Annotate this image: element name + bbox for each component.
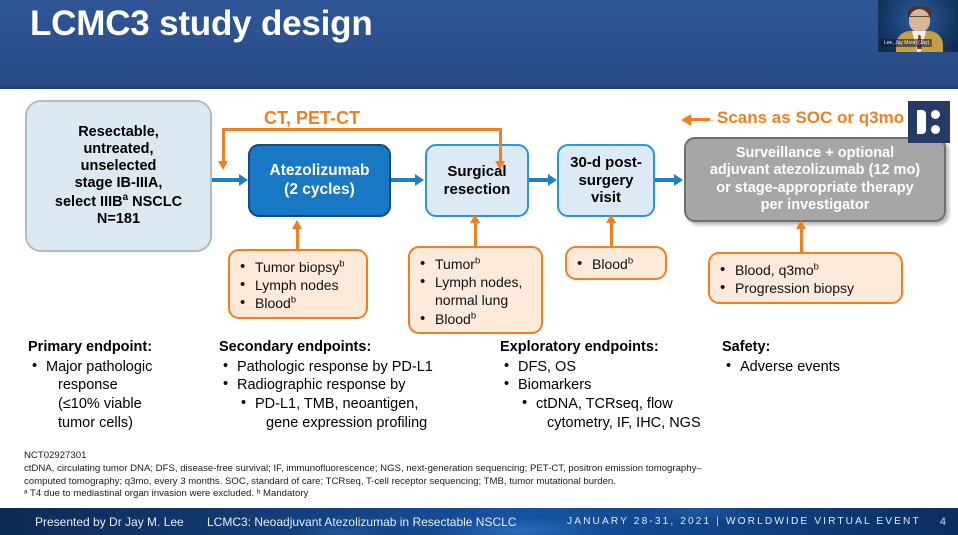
imaging-label: CT, PET-CT — [264, 108, 360, 129]
safety-heading: Safety: — [722, 338, 942, 357]
list-item-sub: PD-L1, TMB, neoantigen, — [219, 395, 509, 414]
flow-arrow-2 — [415, 174, 424, 186]
eligibility-box: Resectable, untreated, unselected stage … — [25, 100, 212, 252]
header-divider — [0, 86, 958, 89]
surgery-line-2: resection — [444, 181, 511, 198]
list-item-continuation: (≤10% viable — [28, 395, 223, 414]
eligibility-line-2: untreated, — [83, 141, 153, 157]
visit-line-3: visit — [591, 189, 621, 206]
imaging-bracket-left-stem — [222, 128, 225, 162]
list-item-continuation: cytometry, IF, IHC, NGS — [500, 414, 725, 433]
glasses-icon — [910, 16, 929, 21]
treatment-box-atezolizumab: Atezolizumab (2 cycles) — [248, 144, 391, 217]
list-item: Biomarkers — [500, 376, 725, 395]
imaging-bracket-right-stem — [499, 128, 502, 162]
sample-list-4: Blood, q3mob Progression biopsy — [718, 261, 891, 297]
abbreviations-line-2: computed tomography; q3mo, every 3 month… — [24, 476, 942, 489]
logo-bar-shape — [917, 110, 926, 134]
imaging-arrow-right — [495, 161, 505, 170]
footnotes-block: NCT02927301 ctDNA, circulating tumor DNA… — [24, 450, 942, 501]
flow-arrow-3 — [548, 174, 557, 186]
flow-arrow-1 — [239, 174, 248, 186]
eligibility-line-4: stage IB-IIIA, — [75, 175, 163, 191]
sample-stem-1 — [296, 228, 299, 250]
flow-arrow-4 — [674, 174, 683, 186]
eligibility-line-6: N=181 — [97, 211, 140, 227]
webcam-name-label: Lee, Jay Moon (Jay) — [881, 39, 932, 47]
surveillance-line-2: adjuvant atezolizumab (12 mo) — [710, 162, 920, 178]
sample-arrow-4 — [796, 220, 806, 229]
scans-arrow-icon — [681, 114, 691, 126]
footer-page-number: 4 — [940, 516, 946, 528]
page-title: LCMC3 study design — [30, 4, 373, 44]
sample-box-pre-treatment: Tumor biopsyb Lymph nodes Bloodb — [228, 249, 368, 319]
list-item: DFS, OS — [500, 358, 725, 377]
list-item: Major pathologic — [28, 358, 223, 377]
flow-line-3 — [529, 178, 550, 182]
list-item-continuation: normal lung — [418, 291, 531, 309]
list-item: Tumor biopsyb — [238, 258, 356, 276]
sample-box-surgical: Tumorb Lymph nodes, normal lung Bloodb — [408, 246, 543, 334]
footer-study-title: LCMC3: Neoadjuvant Atezolizumab in Resec… — [207, 515, 517, 529]
slide-header: LCMC3 study design — [0, 0, 958, 88]
sample-arrow-1 — [292, 220, 302, 229]
sample-box-surveillance: Blood, q3mob Progression biopsy — [708, 252, 903, 304]
safety-section: Safety: Adverse events — [722, 338, 942, 376]
treatment-line-2: (2 cycles) — [284, 181, 355, 198]
safety-list: Adverse events — [722, 358, 942, 377]
sample-arrow-2 — [470, 214, 480, 223]
nct-identifier: NCT02927301 — [24, 450, 942, 463]
list-item: Lymph nodes, — [418, 273, 531, 291]
visit-text: 30-d post- surgery visit — [570, 154, 642, 207]
list-item-continuation: tumor cells) — [28, 414, 223, 433]
list-item: Bloodb — [575, 255, 655, 273]
list-item: Bloodb — [238, 294, 356, 312]
list-item: Tumorb — [418, 255, 531, 273]
scans-label: ←Scans as SOC or q3mo — [700, 108, 904, 128]
flow-line-2 — [391, 178, 416, 182]
slide-footer: Presented by Dr Jay M. Lee LCMC3: Neoadj… — [0, 508, 958, 535]
list-item: Progression biopsy — [718, 279, 891, 297]
list-item-sub: ctDNA, TCRseq, flow — [500, 395, 725, 414]
list-item: Blood, q3mob — [718, 261, 891, 279]
eligibility-line-1: Resectable, — [78, 124, 159, 140]
sample-stem-3 — [610, 222, 613, 248]
scans-line — [690, 118, 710, 121]
surveillance-line-4: per investigator — [761, 197, 870, 213]
list-item-continuation: response — [28, 376, 223, 395]
list-item-continuation: gene expression profiling — [219, 414, 509, 433]
list-item: Lymph nodes — [238, 276, 356, 294]
footnote-markers-line: ᵃ T4 due to mediastinal organ invasion w… — [24, 488, 942, 501]
sample-list-2: Tumorb Lymph nodes, normal lung Bloodb — [418, 255, 531, 328]
logo-dot-bottom — [931, 125, 940, 134]
imaging-arrow-left — [218, 161, 228, 170]
slide-canvas: LCMC3 study design Lee, Jay Moon (Jay) R… — [0, 0, 958, 535]
primary-endpoint-heading: Primary endpoint: — [28, 338, 223, 357]
list-item: Radiographic response by — [219, 376, 509, 395]
sample-stem-2 — [474, 222, 477, 248]
sample-box-post-surgery: Bloodb — [565, 246, 667, 280]
eligibility-line-5: select IIIBa NSCLC — [55, 194, 182, 210]
treatment-line-1: Atezolizumab — [270, 162, 370, 179]
surveillance-text: Surveillance + optional adjuvant atezoli… — [710, 145, 920, 213]
exploratory-endpoint-list: DFS, OS Biomarkers ctDNA, TCRseq, flow c… — [500, 358, 725, 433]
exploratory-endpoint-heading: Exploratory endpoints: — [500, 338, 725, 357]
eligibility-line-3: unselected — [81, 158, 157, 174]
exploratory-endpoint-section: Exploratory endpoints: DFS, OS Biomarker… — [500, 338, 725, 433]
list-item: Bloodb — [418, 310, 531, 328]
primary-endpoint-section: Primary endpoint: Major pathologic respo… — [28, 338, 223, 433]
footer-presenter: Presented by Dr Jay M. Lee — [35, 515, 184, 529]
sample-arrow-3 — [606, 214, 616, 223]
logo-dot-top — [931, 110, 940, 119]
secondary-endpoint-heading: Secondary endpoints: — [219, 338, 509, 357]
sample-list-3: Bloodb — [575, 255, 655, 273]
sample-stem-4 — [800, 228, 803, 254]
eligibility-text: Resectable, untreated, unselected stage … — [55, 124, 182, 228]
surveillance-box: Surveillance + optional adjuvant atezoli… — [684, 137, 946, 222]
footer-event-info: JANUARY 28-31, 2021 | WORLDWIDE VIRTUAL … — [567, 516, 921, 527]
post-surgery-visit-box: 30-d post- surgery visit — [557, 144, 655, 217]
sample-list-1: Tumor biopsyb Lymph nodes Bloodb — [238, 258, 356, 313]
list-item: Adverse events — [722, 358, 942, 377]
visit-line-1: 30-d post- — [570, 154, 642, 171]
secondary-endpoint-list: Pathologic response by PD-L1 Radiographi… — [219, 358, 509, 433]
flow-line-1 — [212, 178, 240, 182]
abbreviations-line-1: ctDNA, circulating tumor DNA; DFS, disea… — [24, 463, 942, 476]
brand-logo — [908, 101, 950, 143]
primary-endpoint-list: Major pathologic response (≤10% viable t… — [28, 358, 223, 433]
surveillance-line-1: Surveillance + optional — [736, 145, 894, 161]
treatment-text: Atezolizumab (2 cycles) — [270, 162, 370, 199]
list-item: Pathologic response by PD-L1 — [219, 358, 509, 377]
secondary-endpoint-section: Secondary endpoints: Pathologic response… — [219, 338, 509, 433]
visit-line-2: surgery — [578, 172, 633, 189]
surgical-resection-box: Surgical resection — [425, 144, 529, 217]
presenter-webcam-feed[interactable]: Lee, Jay Moon (Jay) — [878, 0, 958, 52]
surveillance-line-3: or stage-appropriate therapy — [716, 180, 913, 196]
imaging-bracket-horizontal — [222, 128, 502, 131]
